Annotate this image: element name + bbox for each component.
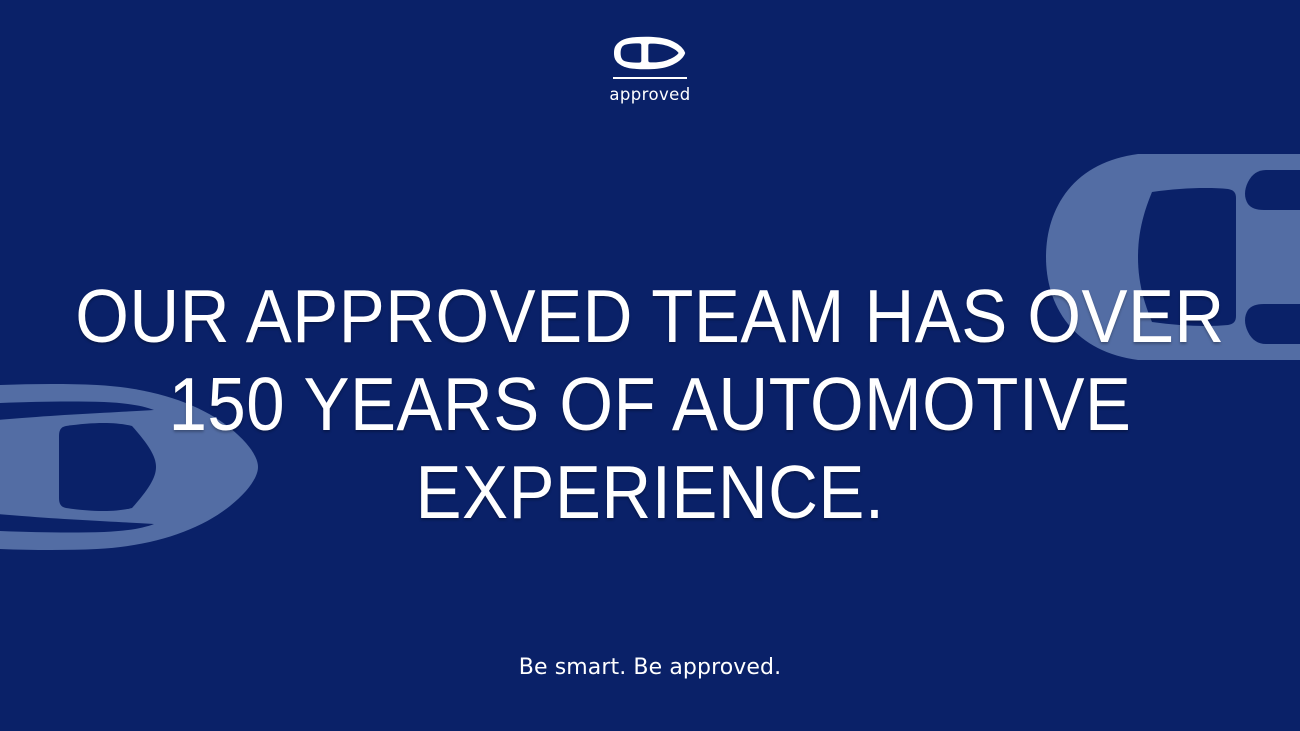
headline: OUR APPROVED TEAM HAS OVER 150 YEARS OF …: [0, 272, 1300, 536]
headline-line-2: 150 YEARS OF AUTOMOTIVE: [52, 360, 1248, 448]
brand-logo: approved: [0, 36, 1300, 104]
promo-banner: approved OUR APPROVED TEAM HAS OVER 150 …: [0, 0, 1300, 731]
headline-line-1: OUR APPROVED TEAM HAS OVER: [52, 272, 1248, 360]
logo-wordmark: approved: [609, 85, 690, 104]
logo-divider: [613, 77, 687, 79]
tagline: Be smart. Be approved.: [0, 655, 1300, 680]
headline-line-3: EXPERIENCE.: [52, 448, 1248, 536]
car-top-view-icon: [614, 36, 686, 70]
